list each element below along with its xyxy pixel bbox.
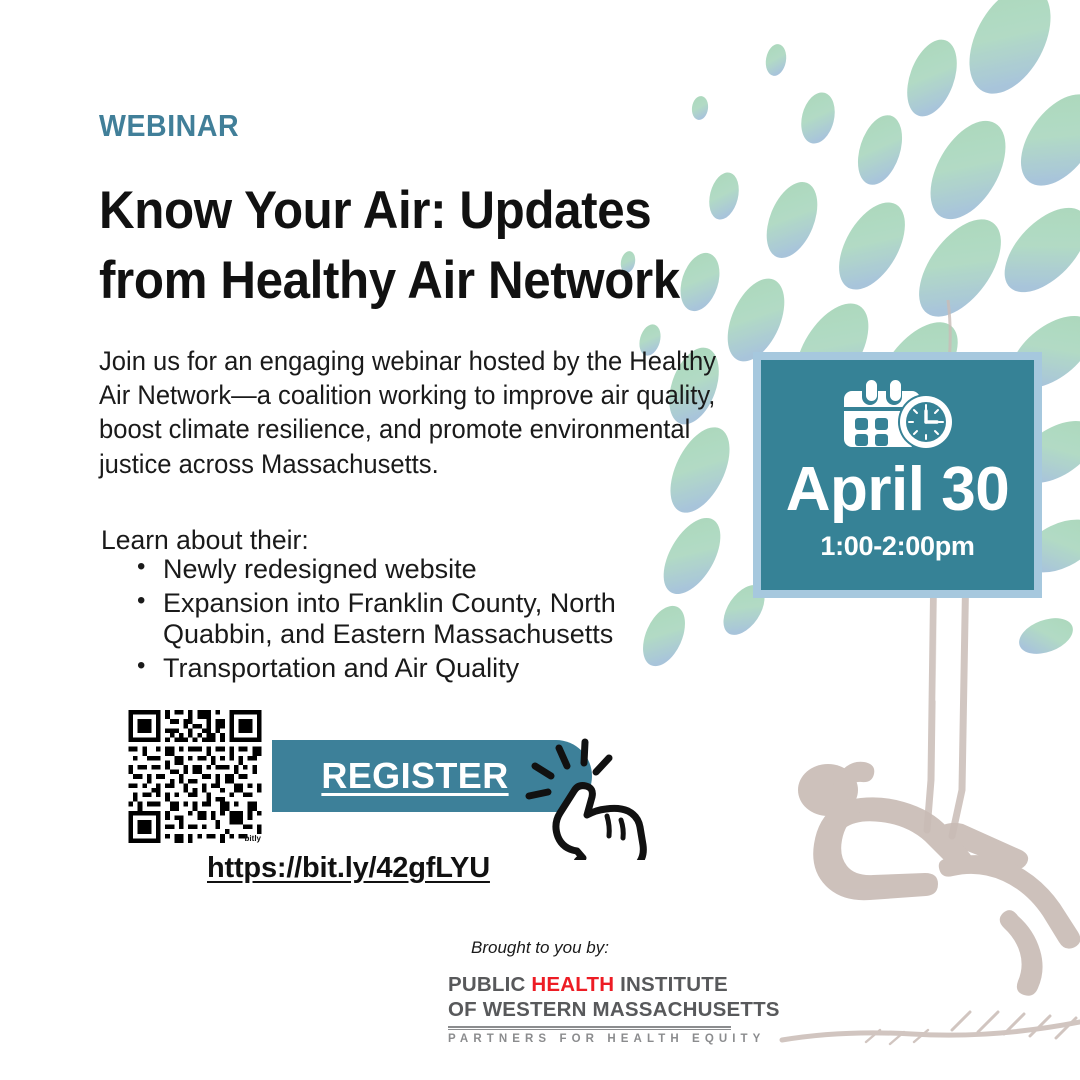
logo-line-2: OF WESTERN MASSACHUSETTS bbox=[448, 998, 780, 1023]
date-badge: April 30 1:00-2:00pm bbox=[753, 352, 1042, 598]
list-item: Newly redesigned website bbox=[130, 554, 670, 586]
logo-line-1: PUBLIC HEALTH INSTITUTE bbox=[448, 973, 780, 998]
logo-tagline: PARTNERS FOR HEALTH EQUITY bbox=[448, 1033, 780, 1045]
list-item: Transportation and Air Quality bbox=[130, 653, 670, 685]
logo-divider bbox=[448, 1026, 731, 1030]
pointing-hand-cursor-icon bbox=[515, 730, 650, 860]
qr-brand-label: bitly bbox=[245, 834, 261, 843]
sponsor-logo: PUBLIC HEALTH INSTITUTE OF WESTERN MASSA… bbox=[352, 966, 780, 1050]
brought-to-you-by-label: Brought to you by: bbox=[0, 938, 1080, 958]
register-button-label: REGISTER bbox=[321, 755, 542, 797]
short-url-link[interactable]: https://bit.ly/42gfLYU bbox=[207, 852, 490, 885]
topics-list: Newly redesigned website Expansion into … bbox=[130, 554, 670, 686]
learn-about-label: Learn about their: bbox=[101, 525, 309, 556]
eyebrow-label: WEBINAR bbox=[99, 108, 239, 144]
logo-text-institute: INSTITUTE bbox=[614, 973, 728, 996]
qr-code[interactable]: bitly bbox=[127, 710, 263, 843]
intro-paragraph: Join us for an engaging webinar hosted b… bbox=[99, 344, 717, 481]
page-title: Know Your Air: Updates from Healthy Air … bbox=[99, 176, 713, 317]
logo-text-public: PUBLIC bbox=[448, 973, 531, 996]
event-date: April 30 bbox=[786, 459, 1009, 521]
event-time: 1:00-2:00pm bbox=[820, 533, 974, 560]
list-item: Expansion into Franklin County, North Qu… bbox=[130, 588, 670, 651]
logo-text-health: HEALTH bbox=[531, 973, 614, 996]
calendar-clock-icon bbox=[838, 377, 958, 451]
sunburst-logo-icon bbox=[352, 966, 436, 1050]
